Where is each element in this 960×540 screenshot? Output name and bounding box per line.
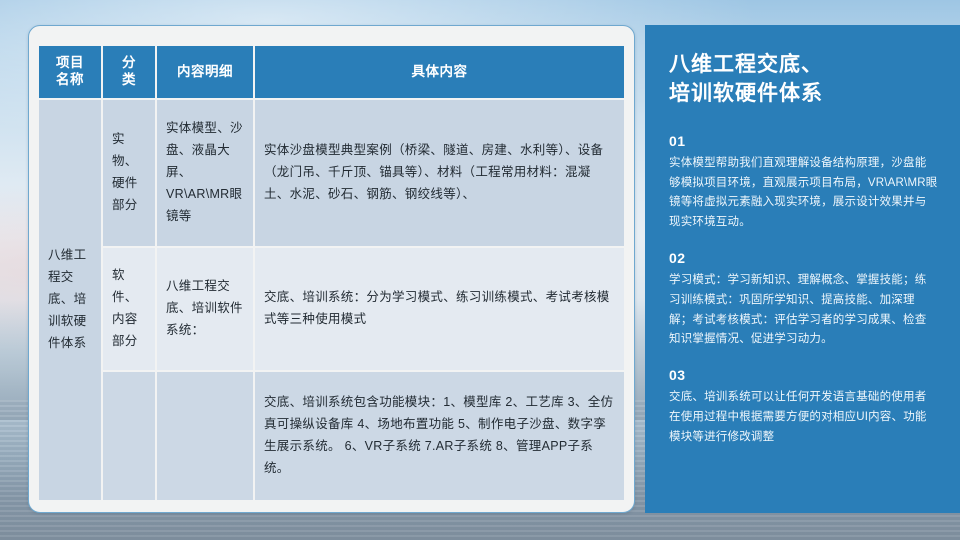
cell-content-software: 交底、培训系统：分为学习模式、练习训练模式、考试考核模式等三种使用模式 xyxy=(255,248,624,370)
cell-category-hardware: 实物、硬件部分 xyxy=(103,100,155,246)
panel-title: 八维工程交底、 培训软硬件体系 xyxy=(669,51,938,109)
spec-table: 项目 名称 分 类 内容明细 具体内容 八维工程交底、培训软硬件体系 实物、硬件… xyxy=(37,44,626,502)
block-body: 学习模式：学习新知识、理解概念、掌握技能；练习训练模式：巩固所学知识、提高技能、… xyxy=(669,271,938,350)
cell-project-name: 八维工程交底、培训软硬件体系 xyxy=(39,100,101,500)
block-number: 01 xyxy=(669,133,938,149)
summary-block-03: 03 交底、培训系统可以让任何开发语言基础的使用者在使用过程中根据需要方便的对相… xyxy=(669,367,938,447)
column-header-detail: 内容明细 xyxy=(157,46,253,98)
table-row: 交底、培训系统包含功能模块：1、模型库 2、工艺库 3、全仿真可操纵设备库 4、… xyxy=(39,372,624,500)
block-body: 实体模型帮助我们直观理解设备结构原理，沙盘能够模拟项目环境，直观展示项目布局，V… xyxy=(669,154,938,233)
column-header-content: 具体内容 xyxy=(255,46,624,98)
block-number: 03 xyxy=(669,367,938,383)
content-card: 项目 名称 分 类 内容明细 具体内容 八维工程交底、培训软硬件体系 实物、硬件… xyxy=(28,25,635,513)
column-header-category: 分 类 xyxy=(103,46,155,98)
cell-content-hardware: 实体沙盘模型典型案例（桥梁、隧道、房建、水利等）、设备（龙门吊、千斤顶、锚具等）… xyxy=(255,100,624,246)
summary-panel: 八维工程交底、 培训软硬件体系 01 实体模型帮助我们直观理解设备结构原理，沙盘… xyxy=(645,25,960,513)
table-row: 八维工程交底、培训软硬件体系 实物、硬件部分 实体模型、沙盘、液晶大屏、VR\A… xyxy=(39,100,624,246)
summary-block-01: 01 实体模型帮助我们直观理解设备结构原理，沙盘能够模拟项目环境，直观展示项目布… xyxy=(669,133,938,233)
table-row: 软件、内容部分 八维工程交底、培训软件系统： 交底、培训系统：分为学习模式、练习… xyxy=(39,248,624,370)
block-number: 02 xyxy=(669,250,938,266)
cell-content-modules: 交底、培训系统包含功能模块：1、模型库 2、工艺库 3、全仿真可操纵设备库 4、… xyxy=(255,372,624,500)
cell-category-empty xyxy=(103,372,155,500)
cell-detail-software: 八维工程交底、培训软件系统： xyxy=(157,248,253,370)
cell-detail-hardware: 实体模型、沙盘、液晶大屏、VR\AR\MR眼镜等 xyxy=(157,100,253,246)
column-header-project-name: 项目 名称 xyxy=(39,46,101,98)
block-body: 交底、培训系统可以让任何开发语言基础的使用者在使用过程中根据需要方便的对相应UI… xyxy=(669,388,938,447)
cell-category-software: 软件、内容部分 xyxy=(103,248,155,370)
cell-detail-empty xyxy=(157,372,253,500)
summary-block-02: 02 学习模式：学习新知识、理解概念、掌握技能；练习训练模式：巩固所学知识、提高… xyxy=(669,250,938,350)
slide-root: 项目 名称 分 类 内容明细 具体内容 八维工程交底、培训软硬件体系 实物、硬件… xyxy=(0,0,960,540)
table-header-row: 项目 名称 分 类 内容明细 具体内容 xyxy=(39,46,624,98)
